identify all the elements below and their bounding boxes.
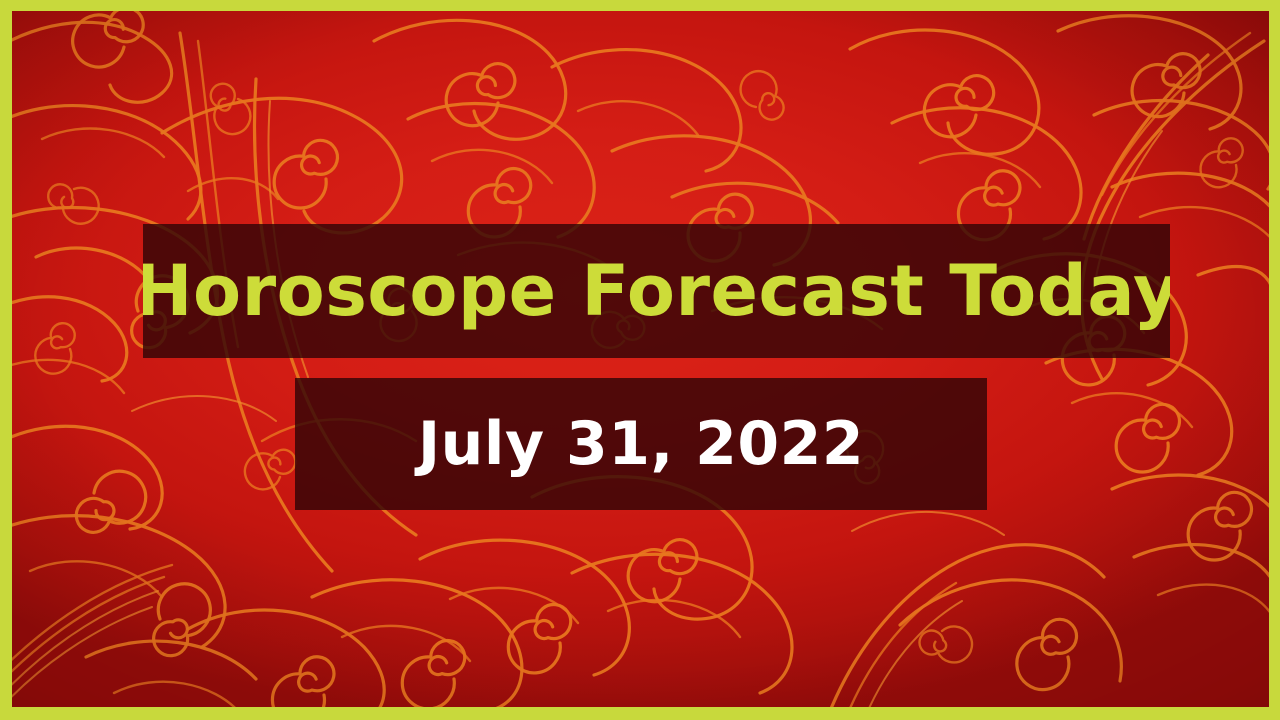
- background-artwork: .ln { fill:none; stroke:#e8761f; stroke-…: [12, 11, 1269, 707]
- title-band: Horoscope Forecast Today: [143, 224, 1170, 358]
- page-title: Horoscope Forecast Today: [143, 256, 1170, 326]
- date-band: July 31, 2022: [295, 378, 987, 510]
- poster-canvas: .ln { fill:none; stroke:#e8761f; stroke-…: [0, 0, 1280, 720]
- cloud-ornament-pattern: .ln { fill:none; stroke:#e8761f; stroke-…: [12, 11, 1269, 707]
- date-label: July 31, 2022: [418, 414, 864, 474]
